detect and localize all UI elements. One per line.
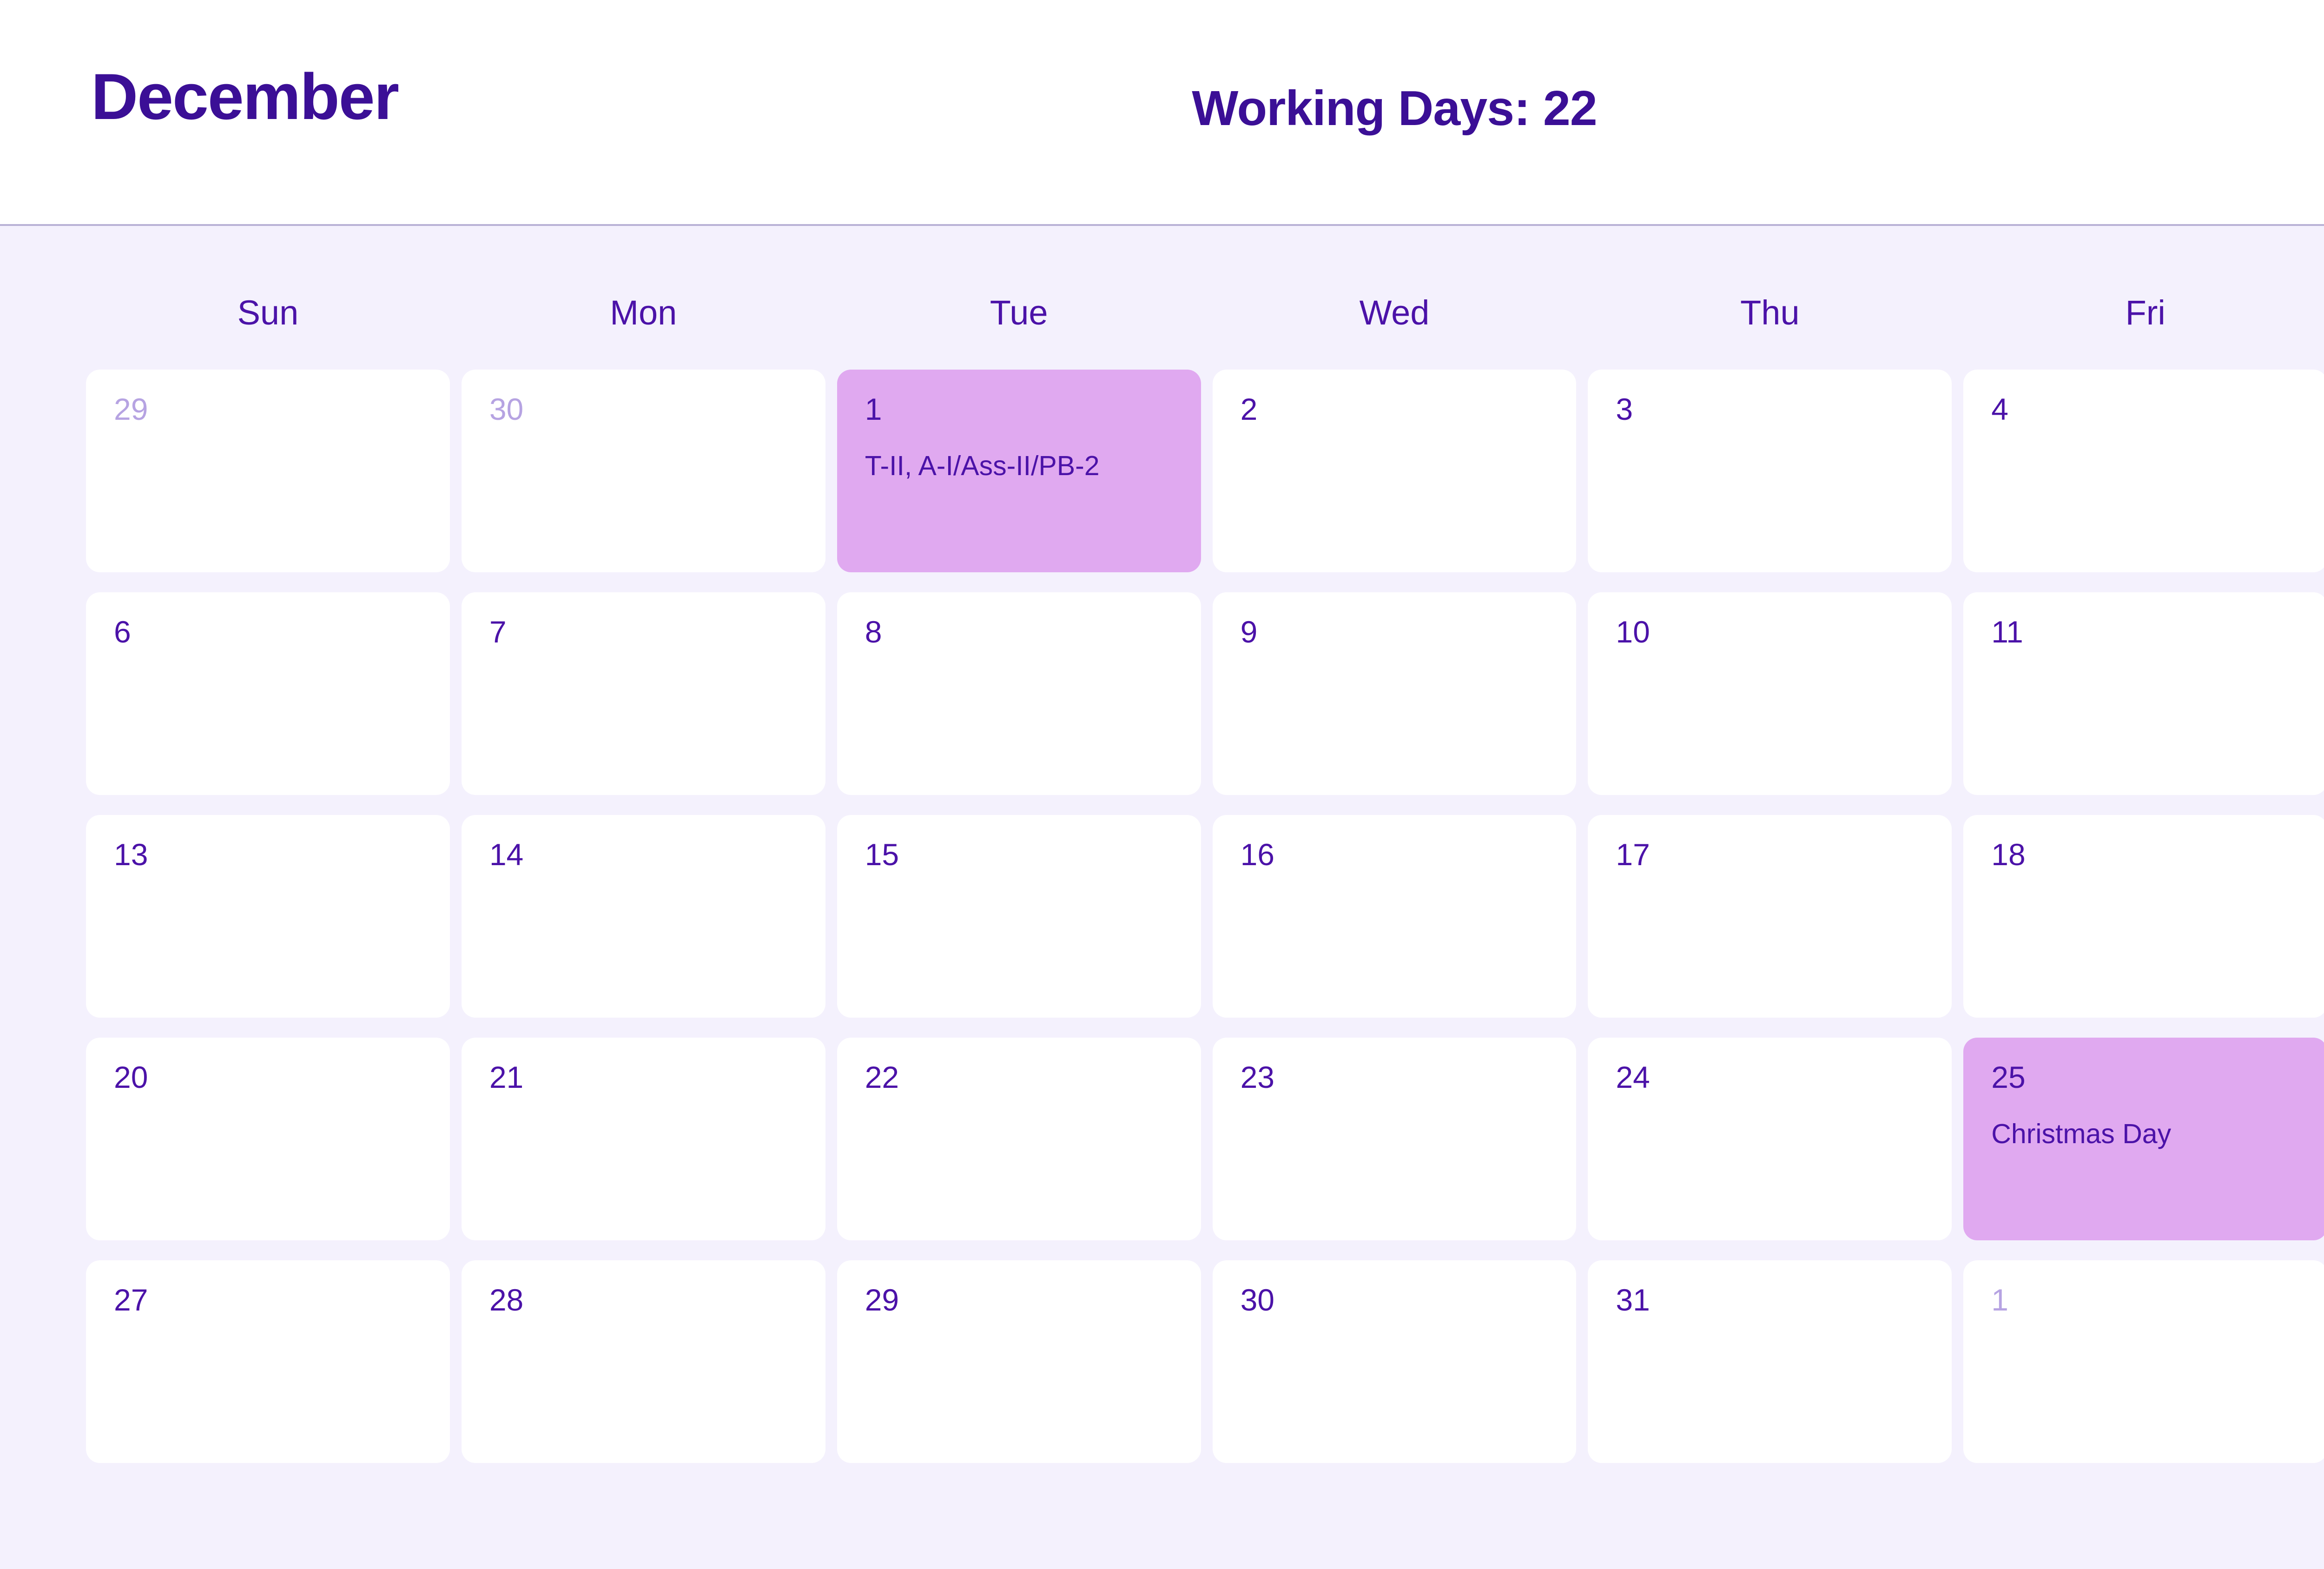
day-number: 8 [865,616,1173,647]
day-number: 24 [1616,1062,1924,1092]
day-cell[interactable]: 10 [1588,592,1952,795]
day-number: 4 [1991,394,2299,424]
day-cell[interactable]: 17 [1588,815,1952,1018]
day-number: 29 [114,394,422,424]
day-number: 28 [489,1284,798,1315]
day-cell[interactable]: 7 [462,592,825,795]
day-cell[interactable]: 29 [86,370,450,572]
day-number: 3 [1616,394,1924,424]
day-number: 21 [489,1062,798,1092]
weekday-header-sun: Sun [86,296,450,330]
day-event-label: T-II, A-I/Ass-II/PB-2 [865,448,1173,484]
day-cell[interactable]: 27 [86,1260,450,1463]
day-cell[interactable]: 15 [837,815,1201,1018]
day-cell[interactable]: 18 [1963,815,2324,1018]
day-cell[interactable]: 13 [86,815,450,1018]
day-cell[interactable]: 23 [1213,1038,1577,1240]
day-number: 10 [1616,616,1924,647]
day-number: 18 [1991,839,2299,870]
day-number: 2 [1241,394,1549,424]
day-number: 22 [865,1062,1173,1092]
day-cell[interactable]: 30 [462,370,825,572]
day-cell[interactable]: 1T-II, A-I/Ass-II/PB-2 [837,370,1201,572]
day-event-label: Christmas Day [1991,1116,2299,1152]
day-cell[interactable]: 29 [837,1260,1201,1463]
day-cell[interactable]: 21 [462,1038,825,1240]
day-number: 23 [1241,1062,1549,1092]
day-number: 1 [1991,1284,2299,1315]
day-number: 27 [114,1284,422,1315]
day-number: 1 [865,394,1173,424]
working-days-label: Working Days: 22 [0,84,2324,133]
day-cell[interactable]: 11 [1963,592,2324,795]
day-number: 17 [1616,839,1924,870]
day-cell[interactable]: 4 [1963,370,2324,572]
day-number: 15 [865,839,1173,870]
day-cell[interactable]: 8 [837,592,1201,795]
day-cell[interactable]: 30 [1213,1260,1577,1463]
day-cell[interactable]: 16 [1213,815,1577,1018]
weekday-header-mon: Mon [462,296,825,330]
day-cell[interactable]: 1 [1963,1260,2324,1463]
weekday-header-fri: Fri [1963,296,2324,330]
day-cell[interactable]: 9 [1213,592,1577,795]
day-cell[interactable]: 6 [86,592,450,795]
day-number: 11 [1991,616,2299,647]
calendar-header: December Working Days: 22 2026 [0,0,2324,226]
weekday-header-row: SunMonTueWedThuFriSat [86,226,2324,330]
day-cell[interactable]: 25Christmas Day [1963,1038,2324,1240]
day-cell[interactable]: 20 [86,1038,450,1240]
day-number: 6 [114,616,422,647]
weekday-header-thu: Thu [1588,296,1952,330]
day-number: 29 [865,1284,1173,1315]
day-cell[interactable]: 22 [837,1038,1201,1240]
weekday-header-tue: Tue [837,296,1201,330]
day-number: 9 [1241,616,1549,647]
day-number: 13 [114,839,422,870]
day-cell[interactable]: 14 [462,815,825,1018]
calendar-day-grid: 29301T-II, A-I/Ass-II/PB-223456789101112… [86,370,2324,1463]
day-cell[interactable]: 31 [1588,1260,1952,1463]
day-number: 7 [489,616,798,647]
day-number: 20 [114,1062,422,1092]
day-number: 31 [1616,1284,1924,1315]
weekday-header-wed: Wed [1213,296,1577,330]
day-number: 16 [1241,839,1549,870]
day-cell[interactable]: 28 [462,1260,825,1463]
day-number: 14 [489,839,798,870]
day-number: 25 [1991,1062,2299,1092]
calendar-body: SunMonTueWedThuFriSat 29301T-II, A-I/Ass… [0,226,2324,1569]
day-cell[interactable]: 3 [1588,370,1952,572]
day-number: 30 [1241,1284,1549,1315]
day-number: 30 [489,394,798,424]
day-cell[interactable]: 2 [1213,370,1577,572]
day-cell[interactable]: 24 [1588,1038,1952,1240]
